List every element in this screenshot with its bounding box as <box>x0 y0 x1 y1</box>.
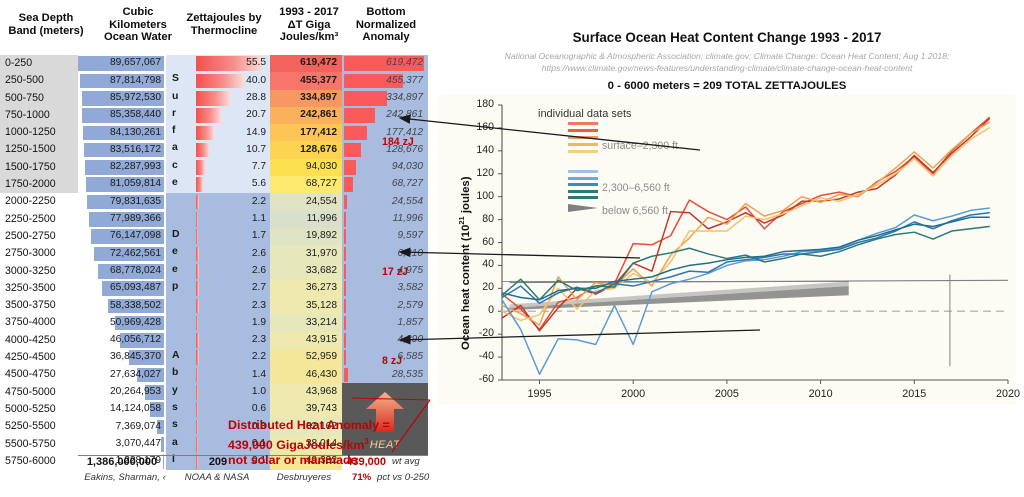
thermocline-letter: s <box>172 419 178 430</box>
thermocline-value: 1.0 <box>252 386 266 397</box>
header-line: Sea Depth <box>2 12 90 25</box>
thermocline-letter: r <box>172 108 176 119</box>
cell-anomaly: 9,597 <box>342 228 428 245</box>
thermocline-letter: p <box>172 281 178 292</box>
anomaly-bar <box>344 333 346 348</box>
cell-depth-band: 4500-4750 <box>0 366 78 383</box>
thermocline-letter: y <box>172 385 178 396</box>
thermocline-bar <box>196 437 198 452</box>
legend-swatch-mid <box>568 170 598 173</box>
chart-source-line-1: National Oceanographic & Atmospheric Ass… <box>460 50 994 62</box>
header-sea-depth-band: Sea Depth Band (meters) <box>2 12 90 37</box>
sources-row: Eakins, Sharman, ‹ NOAA & NASA Desbruyer… <box>0 472 430 488</box>
cubic-km-value: 76,147,098 <box>110 230 161 241</box>
cell-cubic-km: 77,989,366 <box>78 211 166 228</box>
distributed-heat-line-3: not solar or manmade <box>228 453 438 469</box>
thermocline-letter: e <box>172 177 178 188</box>
legend-swatch-mid <box>568 177 598 180</box>
anomaly-value: 619,472 <box>386 57 423 68</box>
thermocline-value: 2.6 <box>252 248 266 259</box>
cell-cubic-km: 36,845,370 <box>78 349 166 366</box>
table-row: 500-75085,972,530u28.8334,897334,897 <box>0 90 430 107</box>
header-delta-t-gigajoules: 1993 - 2017 ΔT Giga Joules/km³ <box>270 6 348 44</box>
thermocline-bar <box>196 160 205 175</box>
cell-thermocline: u28.8 <box>166 90 270 107</box>
cell-cubic-km: 14,124,058 <box>78 401 166 418</box>
distributed-heat-line-1: Distributed Heat Anomaly = <box>228 418 438 434</box>
y-tick-label: 80 <box>468 213 494 225</box>
table-row: 2250-250077,989,3661.111,99611,996 <box>0 211 430 228</box>
cell-thermocline: b1.4 <box>166 366 270 383</box>
ocean-heat-table: Sea Depth Band (meters) Cubic Kilometers… <box>0 0 430 497</box>
cell-cubic-km: 84,130,261 <box>78 124 166 141</box>
table-row: 1750-200081,059,814e5.668,72768,727 <box>0 176 430 193</box>
anomaly-value: 9,597 <box>398 230 424 241</box>
thermocline-bar <box>196 212 198 227</box>
cell-delta-t: 39,743 <box>270 401 342 418</box>
chart-title: Surface Ocean Heat Content Change 1993 -… <box>430 30 1024 45</box>
cell-depth-band: 4250-4500 <box>0 349 78 366</box>
chart-source-line-2: https://www.climate.gov/news-features/un… <box>460 62 994 74</box>
cell-depth-band: 1250-1500 <box>0 141 78 158</box>
cell-depth-band-text: 2500-2750 <box>5 230 56 242</box>
legend-swatch-mid <box>568 196 598 199</box>
thermocline-letter: u <box>172 91 178 102</box>
cell-cubic-km: 58,338,502 <box>78 297 166 314</box>
thermocline-bar <box>196 368 198 383</box>
thermocline-letter: b <box>172 367 178 378</box>
source-cubic-km: Eakins, Sharman, ‹ <box>78 472 172 483</box>
delta-t-value: 31,970 <box>306 248 337 259</box>
cubic-km-value: 3,070,447 <box>116 438 161 449</box>
cell-thermocline: e2.6 <box>166 245 270 262</box>
cubic-km-value: 85,972,530 <box>110 92 161 103</box>
cell-depth-band-text: 1500-1750 <box>5 161 56 173</box>
cell-cubic-km: 50,969,428 <box>78 314 166 331</box>
anomaly-bar <box>344 195 347 210</box>
cell-depth-band: 500-750 <box>0 90 78 107</box>
anomaly-bar <box>344 91 387 106</box>
thermocline-value: 10.7 <box>246 144 266 155</box>
anomaly-bar <box>344 108 375 123</box>
anomaly-bar <box>344 264 346 279</box>
anomaly-value: 4,390 <box>398 334 424 345</box>
cell-depth-band-text: 4750-5000 <box>5 386 56 398</box>
callout-17-zj: 17 zJ <box>382 266 408 278</box>
thermocline-letter: e <box>172 264 178 275</box>
cell-depth-band: 750-1000 <box>0 107 78 124</box>
delta-t-value: 94,030 <box>306 161 337 172</box>
plot-background <box>438 95 1016 405</box>
thermocline-value: 55.5 <box>246 57 266 68</box>
thermocline-bar <box>196 91 230 106</box>
cell-depth-band-text: 750-1000 <box>5 109 50 121</box>
cell-delta-t: 94,030 <box>270 159 342 176</box>
cubic-km-value: 58,338,502 <box>110 300 161 311</box>
cubic-km-value: 82,287,993 <box>110 161 161 172</box>
header-zettajoules-thermocline: Zettajoules by Thermocline <box>170 12 278 37</box>
thermocline-value: 7.7 <box>252 161 266 172</box>
thermocline-value: 1.1 <box>252 213 266 224</box>
table-row: 3000-325068,778,024e2.633,6824,975 <box>0 263 430 280</box>
legend-title: individual data sets <box>538 108 632 120</box>
anomaly-bar <box>344 247 346 262</box>
cell-delta-t: 33,214 <box>270 314 342 331</box>
cell-anomaly: 28,535 <box>342 366 428 383</box>
thermocline-value: 2.2 <box>252 351 266 362</box>
thermocline-letter: S <box>172 73 179 84</box>
thermocline-letter: s <box>172 402 178 413</box>
header-line: Zettajoules by <box>170 12 278 25</box>
cubic-km-value: 68,778,024 <box>110 265 161 276</box>
cell-delta-t: 334,897 <box>270 90 342 107</box>
anomaly-value: 28,535 <box>392 369 423 380</box>
cell-anomaly: 68,727 <box>342 176 428 193</box>
anomaly-value: 11,996 <box>393 213 423 224</box>
cell-cubic-km: 76,147,098 <box>78 228 166 245</box>
delta-t-value: 455,377 <box>300 75 337 86</box>
distributed-heat-callout: Distributed Heat Anomaly = 439,000 GigaJ… <box>228 418 438 469</box>
x-tick-label: 2010 <box>801 388 841 400</box>
legend-label-surface: surface–2,300 ft <box>602 140 678 152</box>
cubic-km-value: 79,831,635 <box>110 196 161 207</box>
y-tick-label: -40 <box>468 350 494 362</box>
cell-depth-band: 2250-2500 <box>0 211 78 228</box>
cell-delta-t: 43,915 <box>270 332 342 349</box>
cell-thermocline: D1.7 <box>166 228 270 245</box>
delta-t-value: 619,472 <box>300 57 337 68</box>
cubic-km-value: 46,056,712 <box>110 334 161 345</box>
cell-depth-band: 2500-2750 <box>0 228 78 245</box>
legend-swatch-mid <box>568 190 598 193</box>
thermocline-bar <box>196 420 198 435</box>
x-tick-label: 2005 <box>707 388 747 400</box>
cubic-km-value: 83,516,172 <box>110 144 161 155</box>
cell-cubic-km: 72,462,561 <box>78 245 166 262</box>
thermocline-value: 14.9 <box>246 127 266 138</box>
cubic-km-value: 27,634,027 <box>110 369 161 380</box>
y-tick-label: 140 <box>468 144 494 156</box>
cell-anomaly: 94,030 <box>342 159 428 176</box>
legend-swatch-surface <box>568 150 598 153</box>
y-tick-label: 40 <box>468 258 494 270</box>
anomaly-value: 1,857 <box>398 317 424 328</box>
table-row: 3750-400050,969,4281.933,2141,857 <box>0 314 430 331</box>
cell-depth-band: 1000-1250 <box>0 124 78 141</box>
thermocline-bar <box>196 74 244 89</box>
anomaly-bar <box>344 299 346 314</box>
header-line: ΔT Giga <box>270 19 348 32</box>
thermocline-value: 2.2 <box>252 196 266 207</box>
cubic-km-bar <box>161 437 164 452</box>
pct-value: 71% <box>352 472 371 483</box>
y-tick-label: -20 <box>468 327 494 339</box>
table-row: 0-25089,657,06755.5619,472619,472 <box>0 55 430 72</box>
legend-swatch-surface <box>568 122 598 125</box>
cell-thermocline: e5.6 <box>166 176 270 193</box>
total-cubic-km: 1,386,000,000 <box>78 456 166 468</box>
thermocline-bar <box>196 229 198 244</box>
delta-t-value: 35,128 <box>306 300 337 311</box>
cell-anomaly: 24,554 <box>342 193 428 210</box>
table-row: 750-100085,358,440r20.7242,861242,861 <box>0 107 430 124</box>
thermocline-bar <box>196 264 199 279</box>
thermocline-letter: a <box>172 437 178 448</box>
cell-thermocline: a10.7 <box>166 141 270 158</box>
cubic-km-value: 84,130,261 <box>110 127 161 138</box>
cell-cubic-km: 81,059,814 <box>78 176 166 193</box>
header-line: Band (meters) <box>2 25 90 38</box>
table-row: 2500-275076,147,098D1.719,8929,597 <box>0 228 430 245</box>
cell-cubic-km: 3,070,447 <box>78 436 166 453</box>
header-line: Bottom <box>345 6 427 19</box>
cell-thermocline: s0.6 <box>166 401 270 418</box>
cell-thermocline: y1.0 <box>166 384 270 401</box>
cell-thermocline: 2.2 <box>166 193 270 210</box>
delta-t-value: 128,676 <box>300 144 337 155</box>
anomaly-value: 24,554 <box>392 196 423 207</box>
cell-anomaly: 1,857 <box>342 314 428 331</box>
cell-depth-band: 4750-5000 <box>0 384 78 401</box>
thermocline-bar <box>196 350 199 365</box>
delta-t-value: 242,861 <box>300 109 337 120</box>
cell-depth-band-text: 250-500 <box>5 74 44 86</box>
cell-depth-band: 3750-4000 <box>0 314 78 331</box>
x-tick-label: 1995 <box>519 388 559 400</box>
table-row: 3250-350065,093,487p2.736,2733,582 <box>0 280 430 297</box>
legend-swatch-surface <box>568 129 598 132</box>
cell-depth-band-text: 4250-4500 <box>5 351 56 363</box>
thermocline-value: 20.7 <box>246 109 266 120</box>
cell-delta-t: 128,676 <box>270 141 342 158</box>
thermocline-bar <box>196 299 199 314</box>
cell-depth-band-text: 0-250 <box>5 57 32 69</box>
thermocline-letter: a <box>172 142 178 153</box>
cubic-km-value: 14,124,058 <box>110 403 161 414</box>
cell-thermocline: S40.0 <box>166 72 270 89</box>
header-line: Normalized <box>345 19 427 32</box>
y-tick-label: 100 <box>468 190 494 202</box>
cell-delta-t: 11,996 <box>270 211 342 228</box>
header-line: Thermocline <box>170 25 278 38</box>
thermocline-value: 1.7 <box>252 230 266 241</box>
cell-cubic-km: 89,657,067 <box>78 55 166 72</box>
thermocline-bar <box>196 108 221 123</box>
delta-t-value: 36,273 <box>306 282 337 293</box>
cell-anomaly: 11,996 <box>342 211 428 228</box>
cell-thermocline: p2.7 <box>166 280 270 297</box>
cubic-km-value: 50,969,428 <box>110 317 161 328</box>
cell-delta-t: 31,970 <box>270 245 342 262</box>
cubic-km-value: 20,264,953 <box>110 386 161 397</box>
cell-anomaly: 334,897 <box>342 90 428 107</box>
delta-t-value: 33,214 <box>306 317 337 328</box>
cubic-km-value: 81,059,814 <box>110 178 161 189</box>
anomaly-bar <box>344 177 353 192</box>
anomaly-bar <box>344 126 367 141</box>
delta-t-value: 19,892 <box>306 230 337 241</box>
cell-thermocline: 2.3 <box>166 297 270 314</box>
cell-delta-t: 177,412 <box>270 124 342 141</box>
cell-anomaly: 242,861 <box>342 107 428 124</box>
anomaly-value: 3,582 <box>398 282 424 293</box>
y-tick-label: 180 <box>468 98 494 110</box>
cell-depth-band: 4000-4250 <box>0 332 78 349</box>
cell-cubic-km: 79,831,635 <box>78 193 166 210</box>
legend-swatch-surface <box>568 143 598 146</box>
header-line: Anomaly <box>345 31 427 44</box>
delta-t-value: 33,682 <box>306 265 337 276</box>
cell-depth-band: 3000-3250 <box>0 263 78 280</box>
distributed-heat-line-2: 439,000 GigaJoules/km3 <box>228 434 438 454</box>
thermocline-value: 2.6 <box>252 265 266 276</box>
thermocline-value: 0.6 <box>252 403 266 414</box>
cell-depth-band-text: 4500-4750 <box>5 368 56 380</box>
x-tick-label: 2020 <box>988 388 1024 400</box>
chart-source: National Oceanographic & Atmospheric Ass… <box>460 50 994 74</box>
source-delta-t: Desbruyeres <box>264 472 344 483</box>
delta-t-value: 52,959 <box>306 351 337 362</box>
cell-depth-band: 2750-3000 <box>0 245 78 262</box>
cell-depth-band-text: 4000-4250 <box>5 334 56 346</box>
cell-thermocline: e2.6 <box>166 263 270 280</box>
cell-depth-band-text: 5500-5750 <box>5 438 56 450</box>
cubic-km-value: 36,845,370 <box>110 351 161 362</box>
legend-swatch-surface <box>568 136 598 139</box>
cell-depth-band-text: 2750-3000 <box>5 247 56 259</box>
table-row: 2750-300072,462,561e2.631,9706,910 <box>0 245 430 262</box>
cell-depth-band: 5000-5250 <box>0 401 78 418</box>
thermocline-bar <box>196 333 199 348</box>
cell-depth-band-text: 5250-5500 <box>5 420 56 432</box>
table-header-row: Sea Depth Band (meters) Cubic Kilometers… <box>0 2 430 54</box>
cell-depth-band-text: 3000-3250 <box>5 265 56 277</box>
chart-subtitle: 0 - 6000 meters = 209 TOTAL ZETTAJOULES <box>430 80 1024 92</box>
x-tick-label: 2015 <box>894 388 934 400</box>
cell-delta-t: 36,273 <box>270 280 342 297</box>
legend-swatch-mid <box>568 183 598 186</box>
cell-depth-band: 3500-3750 <box>0 297 78 314</box>
cubic-km-value: 87,814,798 <box>110 75 161 86</box>
table-row: 1250-150083,516,172a10.7128,676128,676 <box>0 141 430 158</box>
source-thermocline: NOAA & NASA <box>172 472 262 483</box>
anomaly-bar <box>344 229 346 244</box>
delta-t-value: 43,915 <box>306 334 337 345</box>
cell-depth-band: 1500-1750 <box>0 159 78 176</box>
y-tick-label: -60 <box>468 373 494 385</box>
cell-delta-t: 68,727 <box>270 176 342 193</box>
anomaly-bar <box>344 350 346 365</box>
cell-depth-band-text: 3500-3750 <box>5 299 56 311</box>
table-row: 2000-225079,831,6352.224,55424,554 <box>0 193 430 210</box>
thermocline-letter: e <box>172 246 178 257</box>
cubic-km-value: 77,989,366 <box>110 213 161 224</box>
anomaly-bar <box>344 212 346 227</box>
cell-depth-band-text: 2000-2250 <box>5 195 56 207</box>
cell-anomaly: 455,377 <box>342 72 428 89</box>
cell-depth-band: 3250-3500 <box>0 280 78 297</box>
cell-cubic-km: 82,287,993 <box>78 159 166 176</box>
y-tick-label: 160 <box>468 121 494 133</box>
thermocline-bar <box>196 316 198 331</box>
y-tick-label: 60 <box>468 236 494 248</box>
y-tick-label: 0 <box>468 304 494 316</box>
delta-t-value: 24,554 <box>306 196 337 207</box>
anomaly-value: 455,377 <box>386 75 423 86</box>
cell-depth-band: 2000-2250 <box>0 193 78 210</box>
cell-delta-t: 52,959 <box>270 349 342 366</box>
cell-depth-band: 5250-5500 <box>0 418 78 435</box>
anomaly-value: 2,579 <box>398 300 424 311</box>
cell-cubic-km: 85,358,440 <box>78 107 166 124</box>
ocean-heat-chart-panel: Surface Ocean Heat Content Change 1993 -… <box>430 0 1024 497</box>
delta-t-value: 334,897 <box>300 92 337 103</box>
thermocline-bar <box>196 143 209 158</box>
cell-depth-band: 250-500 <box>0 72 78 89</box>
cell-delta-t: 242,861 <box>270 107 342 124</box>
cell-thermocline: 1.1 <box>166 211 270 228</box>
cubic-km-value: 72,462,561 <box>110 248 161 259</box>
cell-depth-band-text: 3250-3500 <box>5 282 56 294</box>
delta-t-value: 11,996 <box>307 213 337 224</box>
table-row: 1500-175082,287,993c7.794,03094,030 <box>0 159 430 176</box>
cell-thermocline: f14.9 <box>166 124 270 141</box>
cell-thermocline: A2.2 <box>166 349 270 366</box>
cell-delta-t: 46,430 <box>270 366 342 383</box>
cell-anomaly: 619,472 <box>342 55 428 72</box>
cell-anomaly: 3,582 <box>342 280 428 297</box>
cell-depth-band: 1750-2000 <box>0 176 78 193</box>
cell-depth-band-text: 2250-2500 <box>5 213 56 225</box>
table-row: 4500-475027,634,027b1.446,43028,535 <box>0 366 430 383</box>
cell-cubic-km: 85,972,530 <box>78 90 166 107</box>
delta-t-value: 68,727 <box>306 178 337 189</box>
cell-depth-band: 5500-5750 <box>0 436 78 453</box>
thermocline-bar <box>196 402 198 417</box>
cell-depth-band-text: 3750-4000 <box>5 316 56 328</box>
thermocline-letter: c <box>172 160 178 171</box>
cell-cubic-km: 65,093,487 <box>78 280 166 297</box>
callout-184-zj: 184 zJ <box>382 136 414 148</box>
cell-cubic-km: 20,264,953 <box>78 384 166 401</box>
header-line: Joules/km³ <box>270 31 348 44</box>
cell-cubic-km: 27,634,027 <box>78 366 166 383</box>
cell-cubic-km: 46,056,712 <box>78 332 166 349</box>
anomaly-bar <box>344 160 356 175</box>
cell-anomaly: 6,910 <box>342 245 428 262</box>
cell-thermocline: r20.7 <box>166 107 270 124</box>
cell-delta-t: 19,892 <box>270 228 342 245</box>
cell-cubic-km: 7,369,074 <box>78 418 166 435</box>
callout-8-zj: 8 zJ <box>382 355 402 367</box>
y-axis-label: Ocean heat content (1021 joules) <box>444 150 460 350</box>
cell-delta-t: 43,968 <box>270 384 342 401</box>
table-row: 3500-375058,338,5022.335,1282,579 <box>0 297 430 314</box>
y-tick-label: 20 <box>468 281 494 293</box>
anomaly-bar <box>344 316 346 331</box>
thermocline-letter: f <box>172 125 175 136</box>
cubic-km-value: 7,369,074 <box>116 421 161 432</box>
anomaly-value: 94,030 <box>392 161 423 172</box>
cell-depth-band-text: 500-750 <box>5 92 44 104</box>
thermocline-value: 40.0 <box>246 75 266 86</box>
cell-delta-t: 33,682 <box>270 263 342 280</box>
thermocline-letter: A <box>172 350 180 361</box>
thermocline-bar <box>196 281 199 296</box>
cell-thermocline: 2.3 <box>166 332 270 349</box>
cell-cubic-km: 68,778,024 <box>78 263 166 280</box>
anomaly-bar <box>344 368 348 383</box>
